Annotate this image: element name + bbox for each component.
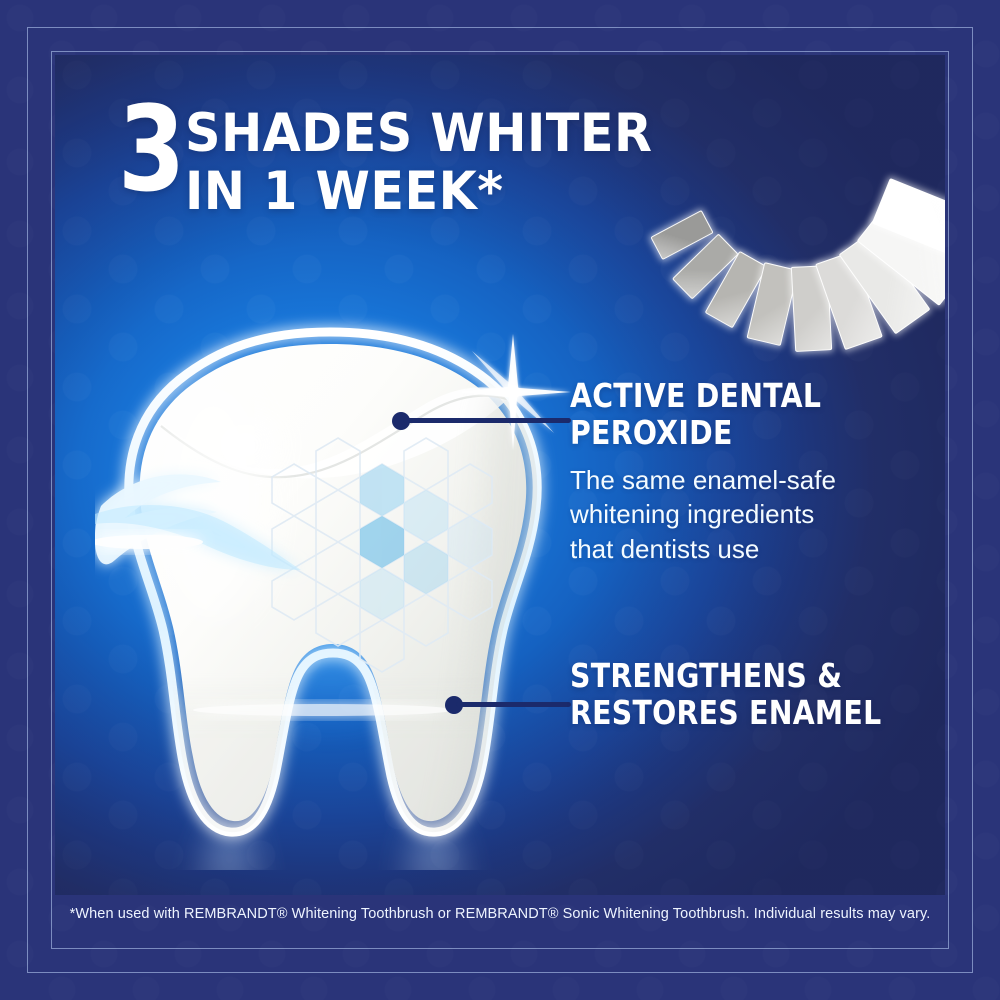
- callout-body-line3: that dentists use: [570, 532, 910, 566]
- callout-title-line2: PEROXIDE: [570, 415, 862, 452]
- callout-body-line2: whitening ingredients: [570, 497, 910, 531]
- callout-body-line1: The same enamel-safe: [570, 463, 910, 497]
- tooth-graphic: [95, 270, 565, 870]
- lower-flare: [193, 704, 453, 716]
- callout-body: The same enamel-safe whitening ingredien…: [570, 463, 910, 566]
- headline-line-1: SHADES WHITER: [185, 107, 652, 161]
- main-blue-panel: ACTIVE DENTAL PEROXIDE The same enamel-s…: [55, 55, 945, 895]
- callout-active-dental-peroxide: ACTIVE DENTAL PEROXIDE The same enamel-s…: [570, 378, 910, 566]
- advertisement-canvas: ACTIVE DENTAL PEROXIDE The same enamel-s…: [0, 0, 1000, 1000]
- headline-number: 3: [118, 99, 183, 200]
- swoosh-flare: [95, 535, 203, 549]
- headline-line-2: IN 1 WEEK*: [185, 165, 652, 219]
- callout-title-line1: ACTIVE DENTAL: [570, 378, 862, 415]
- footnote-disclaimer: *When used with REMBRANDT® Whitening Too…: [0, 906, 1000, 922]
- tooth-shade-guide-arc: [655, 151, 945, 331]
- callout2-title-line2: RESTORES ENAMEL: [570, 695, 867, 732]
- leader-line-peroxide: [403, 418, 571, 423]
- callout2-title-line1: STRENGTHENS &: [570, 658, 867, 695]
- callout-strengthens-restores-enamel: STRENGTHENS & RESTORES ENAMEL: [570, 658, 915, 732]
- tooth-illustration-svg: [95, 270, 565, 870]
- leader-line-enamel: [456, 702, 571, 707]
